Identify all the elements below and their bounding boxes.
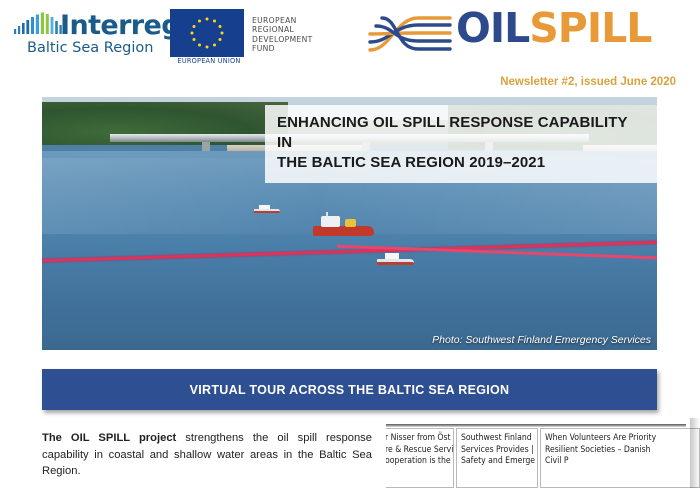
page-title-line-1: ENHANCING OIL SPILL RESPONSE CAPABILITY …	[277, 113, 645, 153]
boat-cabin	[385, 253, 400, 259]
boat-cabin	[259, 205, 269, 209]
oil-spill-logo: OILSPILL	[368, 6, 688, 62]
interreg-wave-bars-icon	[14, 12, 64, 38]
eu-stars-icon	[170, 9, 244, 57]
intro-paragraph: The OIL SPILL project strengthens the oi…	[42, 430, 372, 480]
eu-fund-line-4: FUND	[252, 44, 313, 53]
eu-emblem-block: EUROPEAN UNION EUROPEAN REGIONAL DEVELOP…	[170, 9, 335, 63]
news-card[interactable]: r Nisser from Öst re & Rescue Servi oope…	[386, 428, 454, 488]
photo-small-boat	[377, 254, 414, 265]
news-card-line: Services Provides |	[461, 445, 534, 457]
news-card[interactable]: Southwest Finland Services Provides | Sa…	[456, 428, 538, 488]
news-card-line: Civil P	[545, 456, 696, 468]
section-banner-virtual-tour[interactable]: VIRTUAL TOUR ACROSS THE BALTIC SEA REGIO…	[42, 369, 657, 410]
spill-word: SPILL	[529, 4, 651, 52]
news-card-line: Safety and Emerge	[461, 456, 534, 468]
vessel-hull	[313, 226, 375, 236]
page-header: Interreg Baltic Sea Region EUROPEAN UNIO…	[0, 0, 700, 70]
intro-lead-bold: The OIL SPILL project	[42, 432, 176, 444]
vessel-mast	[326, 212, 328, 216]
photo-credit: Photo: Southwest Finland Emergency Servi…	[432, 334, 651, 346]
vessel-superstructure	[321, 216, 339, 227]
eu-flag-icon	[170, 9, 244, 57]
newsletter-issue-meta: Newsletter #2, issued June 2020	[500, 76, 676, 88]
eu-fund-text: EUROPEAN REGIONAL DEVELOPMENT FUND	[252, 16, 313, 53]
news-cards-strip: r Nisser from Öst re & Rescue Servi oope…	[386, 428, 700, 488]
vessel-crane	[345, 219, 356, 227]
photo-small-boat	[254, 206, 280, 214]
interreg-wordmark: Interreg	[60, 10, 180, 41]
eu-fund-line-2: REGIONAL	[252, 25, 313, 34]
oil-word: OIL	[456, 4, 529, 52]
cards-top-rule	[386, 424, 686, 427]
section-banner-label: VIRTUAL TOUR ACROSS THE BALTIC SEA REGIO…	[190, 383, 510, 397]
news-card-line: Southwest Finland	[461, 433, 534, 445]
eu-union-label: EUROPEAN UNION	[167, 57, 251, 65]
oil-spill-wordmark: OILSPILL	[456, 4, 651, 52]
interreg-logo: Interreg Baltic Sea Region	[14, 10, 159, 58]
eu-fund-line-3: DEVELOPMENT	[252, 35, 313, 44]
news-card-line: re & Rescue Servi	[386, 445, 450, 457]
hero-title-overlay: ENHANCING OIL SPILL RESPONSE CAPABILITY …	[265, 105, 657, 183]
boat-waterline	[254, 211, 280, 213]
photo-response-vessel	[313, 217, 375, 236]
page-edge-shadow	[690, 418, 700, 488]
news-card[interactable]: When Volunteers Are Priority Resilient S…	[540, 428, 700, 488]
news-card-line: When Volunteers Are Priority	[545, 433, 696, 445]
eu-fund-line-1: EUROPEAN	[252, 16, 313, 25]
news-card-line: r Nisser from Öst	[386, 433, 450, 445]
page-title-line-2: THE BALTIC SEA REGION 2019–2021	[277, 153, 645, 173]
news-card-line: ooperation is the	[386, 456, 450, 468]
news-card-line: Resilient Societies – Danish	[545, 445, 696, 457]
newsletter-page: Interreg Baltic Sea Region EUROPEAN UNIO…	[0, 0, 700, 488]
boat-waterline	[377, 262, 414, 265]
oil-spill-curved-lines-icon	[368, 10, 454, 56]
interreg-subtitle: Baltic Sea Region	[27, 40, 153, 56]
